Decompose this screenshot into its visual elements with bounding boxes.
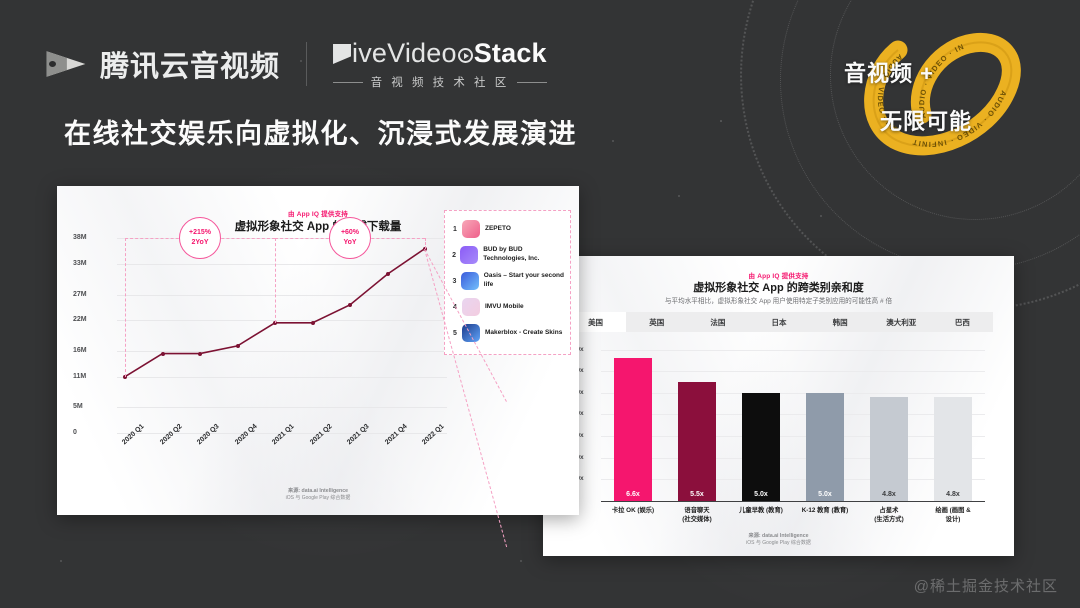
y-axis-tick: 5M — [73, 403, 113, 410]
bar-value-label: 4.8x — [870, 491, 907, 498]
bar-value-label: 5.5x — [678, 491, 715, 498]
y-axis-tick: 33M — [73, 260, 113, 267]
country-tab-英国[interactable]: 英国 — [626, 312, 687, 332]
data-point — [198, 352, 202, 356]
decorative-speck — [820, 215, 822, 217]
gridline — [601, 436, 985, 437]
badge-line-1: 音视频 + — [844, 56, 934, 88]
data-point — [348, 303, 352, 307]
app-name: IMVU Mobile — [485, 303, 524, 312]
y-axis-tick: 38M — [73, 234, 113, 241]
lvs-stack: Stack — [474, 38, 547, 69]
header-divider — [306, 42, 307, 86]
lvs-ive: ive — [352, 38, 387, 69]
gridline — [601, 414, 985, 415]
chart-subtitle-2: 与平均水平相比，虚拟形象社交 App 用户使用特定子类别应用的可能性高 # 倍 — [543, 295, 1014, 305]
y-axis-tick: 27M — [73, 291, 113, 298]
country-tab-法国[interactable]: 法国 — [687, 312, 748, 332]
bar-value-label: 4.8x — [934, 491, 971, 498]
app-icon — [462, 298, 480, 316]
app-name: Makerblox - Create Skins — [485, 329, 562, 338]
app-icon — [462, 220, 480, 238]
gridline — [601, 393, 985, 394]
sub-rule-left — [333, 82, 363, 83]
bar-value-label: 5.0x — [742, 491, 779, 498]
bar: 5.5x — [678, 382, 715, 501]
source-note-1: 来源: data.ai Intelligence iOS 与 Google Pl… — [57, 487, 579, 501]
chart-title-2: 虚拟形象社交 App 的跨类别亲和度 — [543, 279, 1014, 295]
x-axis-category: 绘画 (画图 &设计) — [915, 506, 991, 525]
country-tab-日本[interactable]: 日本 — [748, 312, 809, 332]
y-axis-tick: 22M — [73, 316, 113, 323]
bar-chart-plot: 7.0x6.0x5.0x4.0x3.0x2.0x1.0x06.6x卡拉 OK (… — [601, 342, 985, 501]
bar: 6.6x — [614, 358, 651, 501]
line-chart-plot: 38M33M27M22M16M11M5M02020 Q12020 Q22020 … — [117, 228, 447, 433]
country-tab-澳大利亚[interactable]: 澳大利亚 — [871, 312, 932, 332]
app-rank: 2 — [449, 252, 459, 259]
bar-value-label: 5.0x — [806, 491, 843, 498]
list-item[interactable]: 1ZEPETO — [449, 216, 566, 242]
annotation-bracket-mid — [275, 238, 276, 323]
annotation-value: +215% — [189, 228, 211, 239]
list-item[interactable]: 4IMVU Mobile — [449, 294, 566, 320]
source-line-2: iOS 与 Google Play 综合数据 — [57, 494, 579, 501]
app-rank: 5 — [449, 330, 461, 337]
app-name: Oasis – Start your second life — [484, 272, 566, 290]
gridline — [601, 350, 985, 351]
country-tab-巴西[interactable]: 巴西 — [932, 312, 993, 332]
gridline — [601, 458, 985, 459]
source-note-2: 来源: data.ai Intelligence iOS 与 Google Pl… — [543, 532, 1014, 546]
line-chart-card: 由 App IQ 提供支持 虚拟形象社交 App 的全球下载量 38M33M27… — [57, 186, 579, 515]
growth-annotation: +215%2YoY — [179, 217, 221, 259]
decorative-speck — [720, 120, 722, 122]
decorative-speck — [520, 560, 522, 562]
tencent-cloud-logo-icon — [44, 44, 88, 84]
badge-line-2: 无限可能 — [880, 104, 972, 136]
bar-chart-card: 由 App IQ 提供支持 虚拟形象社交 App 的跨类别亲和度 与平均水平相比… — [543, 256, 1014, 556]
list-item[interactable]: 3Oasis – Start your second life — [449, 268, 566, 294]
list-item[interactable]: 2BUD by BUD Technologies, Inc. — [449, 242, 566, 268]
bar: 5.0x — [742, 393, 779, 501]
slide-header: 腾讯云音视频 iveVideoStack 音 视 频 技 术 社 区 — [44, 36, 547, 92]
page-title: 在线社交娱乐向虚拟化、沉浸式发展演进 — [64, 112, 577, 151]
data-point — [236, 344, 240, 348]
lvs-subtitle: 音 视 频 技 术 社 区 — [363, 74, 518, 90]
annotation-bracket-right — [425, 238, 426, 248]
data-point — [311, 321, 315, 325]
livevideostack-logo: iveVideoStack 音 视 频 技 术 社 区 — [333, 38, 547, 90]
y-axis-tick: 11M — [73, 373, 113, 380]
decorative-speck — [612, 140, 614, 142]
campaign-badge: AUDIO · VIDEO · INFINITE POSSIBILITY AUD… — [840, 14, 1070, 174]
app-icon — [460, 246, 478, 264]
annotation-label: YoY — [343, 238, 356, 249]
country-tab-bar[interactable]: 美国英国法国日本韩国澳大利亚巴西 — [565, 312, 993, 332]
app-icon — [461, 272, 479, 290]
play-circle-icon — [458, 48, 473, 63]
annotation-value: +60% — [341, 228, 359, 239]
country-tab-韩国[interactable]: 韩国 — [810, 312, 871, 332]
list-item[interactable]: 5Makerblox - Create Skins — [449, 320, 566, 346]
app-name: ZEPETO — [485, 225, 511, 234]
sub-rule-right — [517, 82, 547, 83]
bar-value-label: 6.6x — [614, 491, 651, 498]
gridline — [601, 371, 985, 372]
source-line-1: 来源: data.ai Intelligence — [57, 487, 579, 494]
source-line-2: iOS 与 Google Play 综合数据 — [543, 539, 1014, 546]
axis-baseline — [601, 501, 985, 502]
bar: 4.8x — [934, 397, 971, 501]
decorative-speck — [60, 560, 62, 562]
y-axis-tick: 16M — [73, 347, 113, 354]
brand-name-cn: 腾讯云音视频 — [100, 43, 280, 85]
bar: 5.0x — [806, 393, 843, 501]
top-apps-panel: 1ZEPETO2BUD by BUD Technologies, Inc.3Oa… — [444, 210, 571, 355]
line-series — [117, 228, 447, 433]
app-name: BUD by BUD Technologies, Inc. — [483, 246, 566, 264]
source-line-1: 来源: data.ai Intelligence — [543, 532, 1014, 539]
flag-icon — [333, 44, 351, 64]
app-rank: 3 — [449, 278, 460, 285]
gridline — [601, 479, 985, 480]
decorative-speck — [678, 195, 680, 197]
bar: 4.8x — [870, 397, 907, 501]
lvs-video: Video — [387, 38, 457, 69]
growth-annotation: +60%YoY — [329, 217, 371, 259]
annotation-label: 2YoY — [192, 238, 209, 249]
watermark: @稀土掘金技术社区 — [914, 575, 1058, 596]
app-rank: 1 — [449, 226, 461, 233]
y-axis-tick: 0 — [73, 429, 113, 436]
data-point — [386, 272, 390, 276]
annotation-bracket-left — [125, 238, 126, 376]
data-point — [161, 352, 165, 356]
